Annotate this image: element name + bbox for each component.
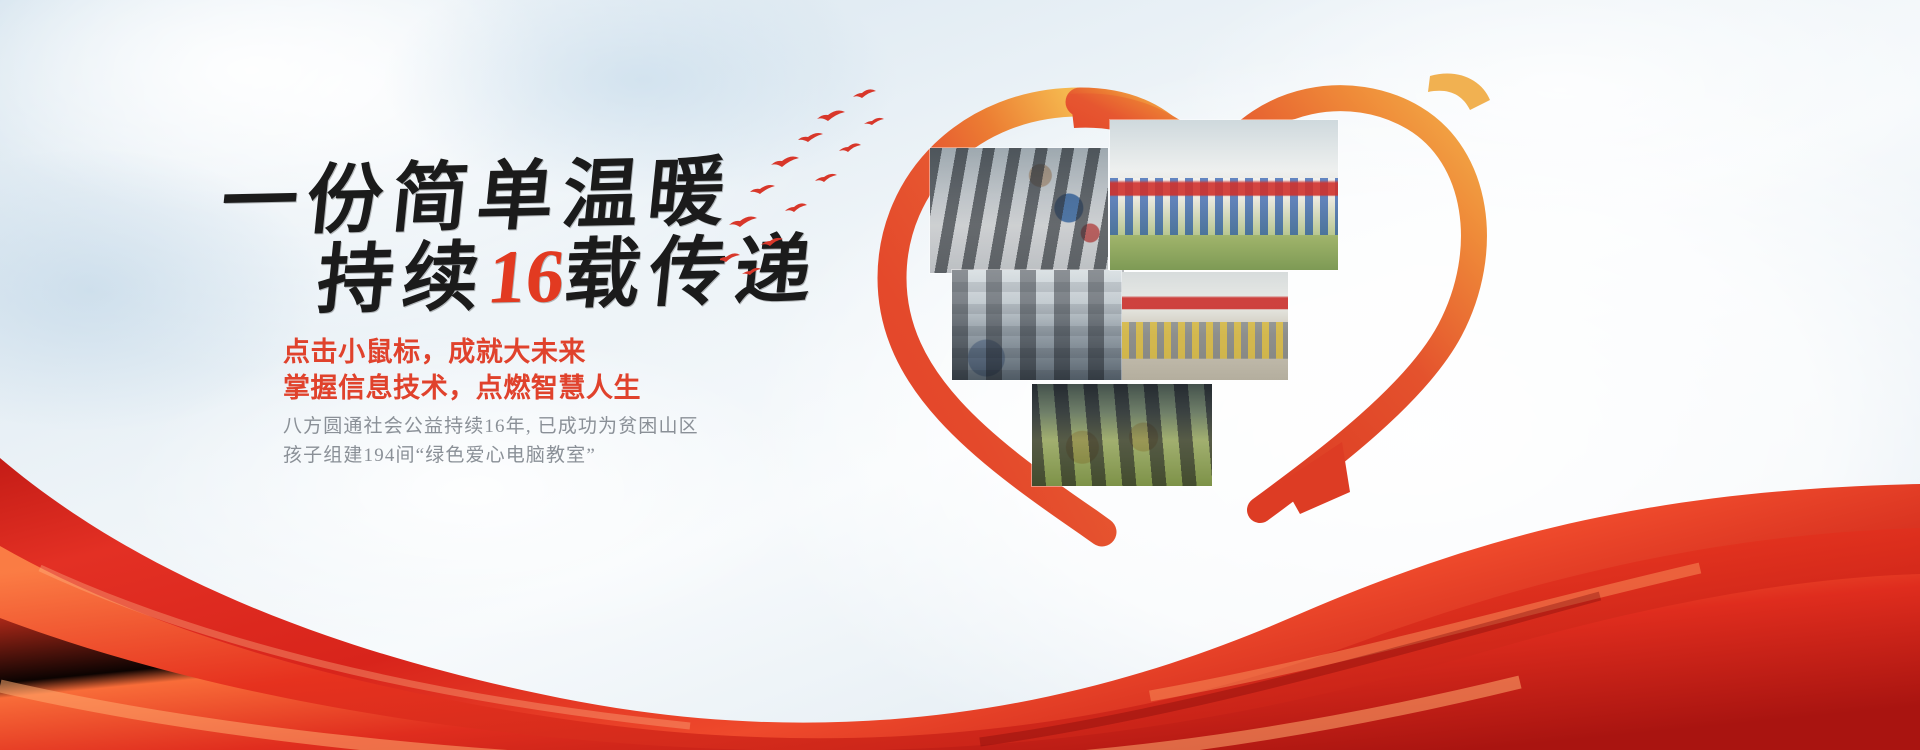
charity-banner: 一份简单温暖 持续16载传递 点击小鼠标，成就大未来 掌握信息技术，点燃智慧人生… (0, 0, 1920, 750)
photo-classroom-b (952, 270, 1124, 380)
description-line-1: 八方圆通社会公益持续16年, 已成功为贫困山区 (283, 411, 699, 438)
headline-line-1: 一份简单温暖 (218, 155, 738, 242)
photo-group-a (1110, 120, 1338, 270)
subtitle-line-2: 掌握信息技术，点燃智慧人生 (283, 366, 641, 405)
red-ribbon-wave (0, 450, 1920, 750)
subtitle-line-1: 点击小鼠标，成就大未来 (283, 330, 586, 369)
headline-years-number: 16 (484, 234, 569, 320)
photo-group-b (1122, 272, 1288, 380)
photo-classroom-a (930, 148, 1108, 273)
headline-line-2-prefix: 持续 (313, 236, 492, 324)
